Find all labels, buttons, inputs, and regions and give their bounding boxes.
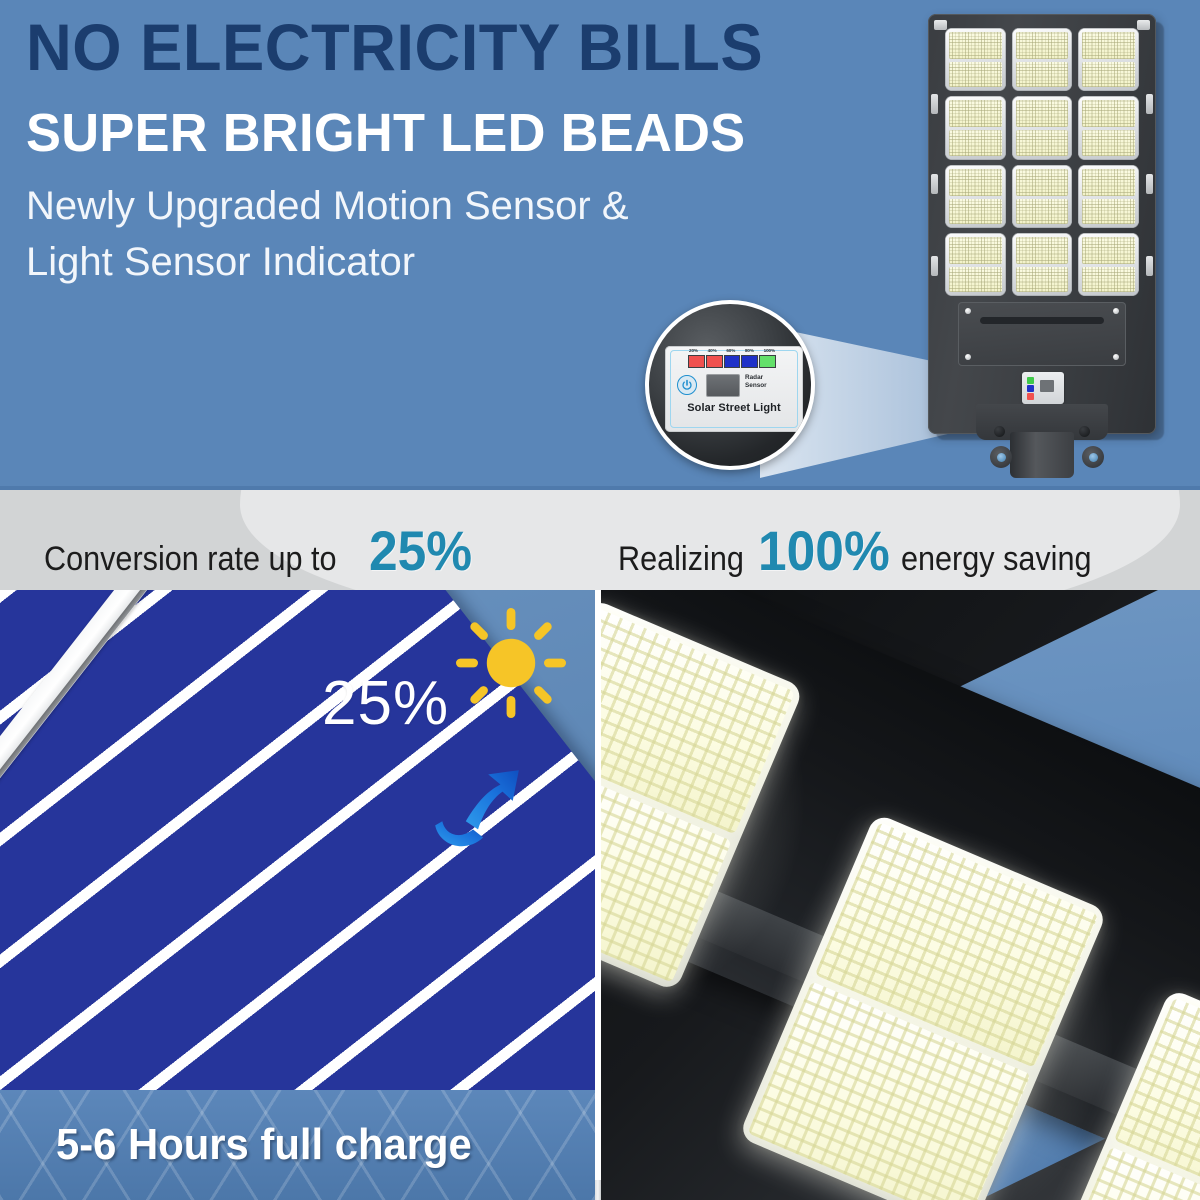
led-array xyxy=(1016,100,1069,127)
sun-icon xyxy=(456,608,566,718)
side-vent-r2 xyxy=(1146,174,1153,194)
battery-scale-label: 60% xyxy=(726,348,735,353)
lamp-driver-box xyxy=(958,302,1126,366)
driver-screw-4 xyxy=(1113,354,1119,360)
driver-screw-3 xyxy=(965,354,971,360)
led-module xyxy=(1012,96,1073,159)
caption-left: 5-6 Hours full charge xyxy=(0,1090,595,1200)
side-vent-r3 xyxy=(1146,256,1153,276)
side-vent-l1 xyxy=(931,94,938,114)
battery-level-bars xyxy=(688,355,776,368)
led-array xyxy=(1016,169,1069,196)
mini-indicator-bar xyxy=(1027,377,1034,384)
bottom-panels: 25% 5-6 Hours full charge xyxy=(0,590,1200,1200)
headline-secondary: SUPER BRIGHT LED BEADS xyxy=(26,105,899,161)
stat-right-value: 100% xyxy=(758,518,890,583)
battery-scale-label: 80% xyxy=(745,348,754,353)
led-array xyxy=(1082,267,1135,292)
led-array xyxy=(1082,237,1135,264)
stat-conversion-rate: Conversion rate up to 25% xyxy=(44,518,481,583)
led-module-grid xyxy=(945,28,1139,296)
battery-scale-label: 20% xyxy=(689,348,698,353)
headline-primary: NO ELECTRICITY BILLS xyxy=(26,14,890,81)
battery-segment xyxy=(724,355,741,368)
led-module xyxy=(1012,28,1073,91)
hero-subline-1: Newly Upgraded Motion Sensor & xyxy=(26,181,926,231)
mini-sensor-indicator xyxy=(1022,372,1064,404)
driver-screw-2 xyxy=(1113,308,1119,314)
led-array xyxy=(1082,169,1135,196)
radar-sensor-window xyxy=(706,374,740,397)
side-vent-r1 xyxy=(1146,94,1153,114)
battery-scale-label: 40% xyxy=(708,348,717,353)
hero-text-block: NO ELECTRICITY BILLS SUPER BRIGHT LED BE… xyxy=(26,14,926,287)
panel-divider xyxy=(595,1180,601,1200)
conversion-percent-label: 25% xyxy=(322,668,449,739)
battery-segment xyxy=(688,355,705,368)
hero-subline-2: Light Sensor Indicator xyxy=(26,237,926,287)
driver-screw-1 xyxy=(965,308,971,314)
led-array xyxy=(949,130,1002,155)
led-array xyxy=(1016,199,1069,224)
bracket-nub-right xyxy=(1079,426,1090,437)
sensor-magnifier-callout: 20%40%60%80%100% Radar Sensor Solar Stre… xyxy=(645,300,815,470)
led-module xyxy=(945,28,1006,91)
led-array xyxy=(1016,130,1069,155)
led-array xyxy=(1082,199,1135,224)
lamp-pole-mount xyxy=(1010,432,1074,478)
led-module xyxy=(945,96,1006,159)
radar-label-line-2: Sensor xyxy=(745,382,789,390)
pole-bolt-right xyxy=(1082,446,1104,468)
stats-band: Conversion rate up to 25% Realizing 100%… xyxy=(0,490,1200,590)
product-infographic-poster: NO ELECTRICITY BILLS SUPER BRIGHT LED BE… xyxy=(0,0,1200,1200)
stat-energy-saving: Realizing 100% energy saving xyxy=(618,518,1113,583)
led-module xyxy=(1012,233,1073,296)
led-module xyxy=(945,165,1006,228)
radar-sensor-label: Radar Sensor xyxy=(745,374,789,390)
caption-left-text: 5-6 Hours full charge xyxy=(56,1120,472,1170)
sensor-plate-title: Solar Street Light xyxy=(665,402,803,414)
led-array xyxy=(1082,100,1135,127)
stat-left-value: 25% xyxy=(369,518,472,583)
driver-slot xyxy=(980,317,1104,324)
solar-panel-tile: 25% 5-6 Hours full charge xyxy=(0,590,595,1200)
battery-segment xyxy=(759,355,776,368)
lamp-fixture xyxy=(928,8,1164,478)
radar-label-line-1: Radar xyxy=(745,374,789,382)
led-module xyxy=(945,233,1006,296)
led-array xyxy=(1016,237,1069,264)
led-array xyxy=(1016,62,1069,87)
led-module xyxy=(1078,28,1139,91)
battery-scale-labels: 20%40%60%80%100% xyxy=(689,348,775,353)
led-array xyxy=(1082,130,1135,155)
mini-indicator-bar xyxy=(1027,385,1034,392)
led-module xyxy=(1078,96,1139,159)
mini-indicator-bar xyxy=(1027,393,1034,400)
led-array xyxy=(1016,32,1069,59)
led-array xyxy=(1016,267,1069,292)
led-array xyxy=(949,62,1002,87)
stat-right-suffix: energy saving xyxy=(901,540,1092,579)
led-array xyxy=(949,100,1002,127)
led-module xyxy=(1012,165,1073,228)
battery-segment xyxy=(706,355,723,368)
battery-scale-label: 100% xyxy=(764,348,775,353)
led-array xyxy=(1082,32,1135,59)
stat-right-prefix: Realizing xyxy=(618,540,744,579)
led-array xyxy=(1082,62,1135,87)
power-icon[interactable] xyxy=(677,375,697,395)
led-module xyxy=(1078,165,1139,228)
led-closeup-tile: Bright all night xyxy=(601,590,1200,1200)
hero-panel: NO ELECTRICITY BILLS SUPER BRIGHT LED BE… xyxy=(0,0,1200,490)
sensor-control-plate: 20%40%60%80%100% Radar Sensor Solar Stre… xyxy=(665,346,803,432)
side-vent-l2 xyxy=(931,174,938,194)
stat-left-prefix: Conversion rate up to xyxy=(44,540,337,579)
led-array xyxy=(949,237,1002,264)
led-array xyxy=(949,32,1002,59)
pole-bolt-left xyxy=(990,446,1012,468)
led-module xyxy=(1078,233,1139,296)
bracket-nub-left xyxy=(994,426,1005,437)
curved-up-arrow-icon xyxy=(424,758,528,860)
led-array xyxy=(949,169,1002,196)
side-vent-l3 xyxy=(931,256,938,276)
lamp-body xyxy=(928,14,1156,434)
mini-indicator-chip xyxy=(1040,380,1054,392)
led-array xyxy=(949,267,1002,292)
battery-segment xyxy=(741,355,758,368)
led-array xyxy=(949,199,1002,224)
